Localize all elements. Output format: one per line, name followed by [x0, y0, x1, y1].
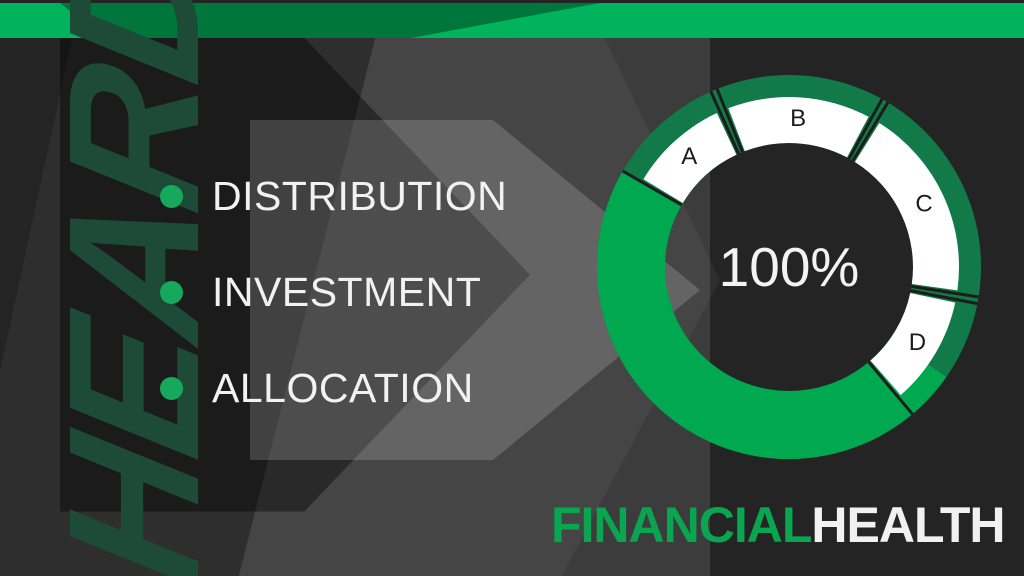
bullet-dot-icon	[160, 377, 183, 400]
list-item-label: INVESTMENT	[212, 269, 481, 316]
list-item[interactable]: INVESTMENT	[160, 244, 600, 340]
donut-arc	[855, 123, 959, 290]
donut-chart-svg: ABCD	[597, 75, 981, 459]
brand-wordmark-health: HEALTH	[811, 497, 1004, 553]
list-item[interactable]: ALLOCATION	[160, 340, 600, 436]
brand-wordmark-financial: FINANCIAL	[551, 497, 811, 553]
list-item-label: DISTRIBUTION	[212, 173, 507, 220]
slide-canvas: HEARD DISTRIBUTION INVESTMENT ALLOCATION…	[0, 0, 1024, 576]
list-item-label: ALLOCATION	[212, 365, 474, 412]
donut-segment-label: C	[915, 191, 932, 218]
donut-arc	[597, 171, 946, 459]
donut-segment-label: A	[681, 143, 697, 170]
bullet-list: DISTRIBUTION INVESTMENT ALLOCATION	[160, 148, 600, 436]
donut-chart[interactable]: ABCD 100%	[597, 75, 981, 459]
list-item[interactable]: DISTRIBUTION	[160, 148, 600, 244]
bullet-dot-icon	[160, 281, 183, 304]
donut-segment-label: D	[909, 329, 926, 356]
bullet-dot-icon	[160, 185, 183, 208]
brand-wordmark: FINANCIALHEALTH	[551, 496, 1004, 554]
donut-segment-label: B	[790, 105, 806, 132]
